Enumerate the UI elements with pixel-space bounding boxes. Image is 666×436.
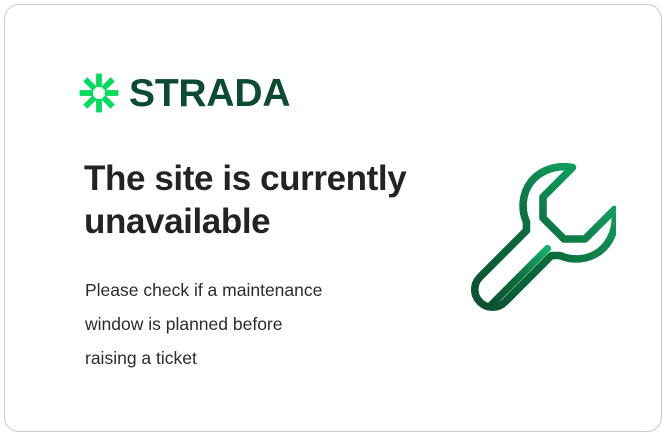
description-line: Please check if a maintenance	[85, 273, 395, 307]
brand-lockup: STRADA	[79, 73, 290, 113]
error-page-root: STRADA The site is currently unavailable…	[0, 0, 666, 436]
description-line: raising a ticket	[85, 341, 395, 375]
strada-asterisk-icon	[79, 73, 119, 113]
description-line: window is planned before	[85, 307, 395, 341]
page-title: The site is currently unavailable	[84, 157, 414, 243]
brand-wordmark: STRADA	[129, 74, 290, 113]
status-card: STRADA The site is currently unavailable…	[4, 4, 662, 432]
status-card-content: STRADA The site is currently unavailable…	[5, 5, 661, 431]
wrench-icon	[460, 157, 616, 313]
page-description: Please check if a maintenance window is …	[85, 273, 395, 375]
